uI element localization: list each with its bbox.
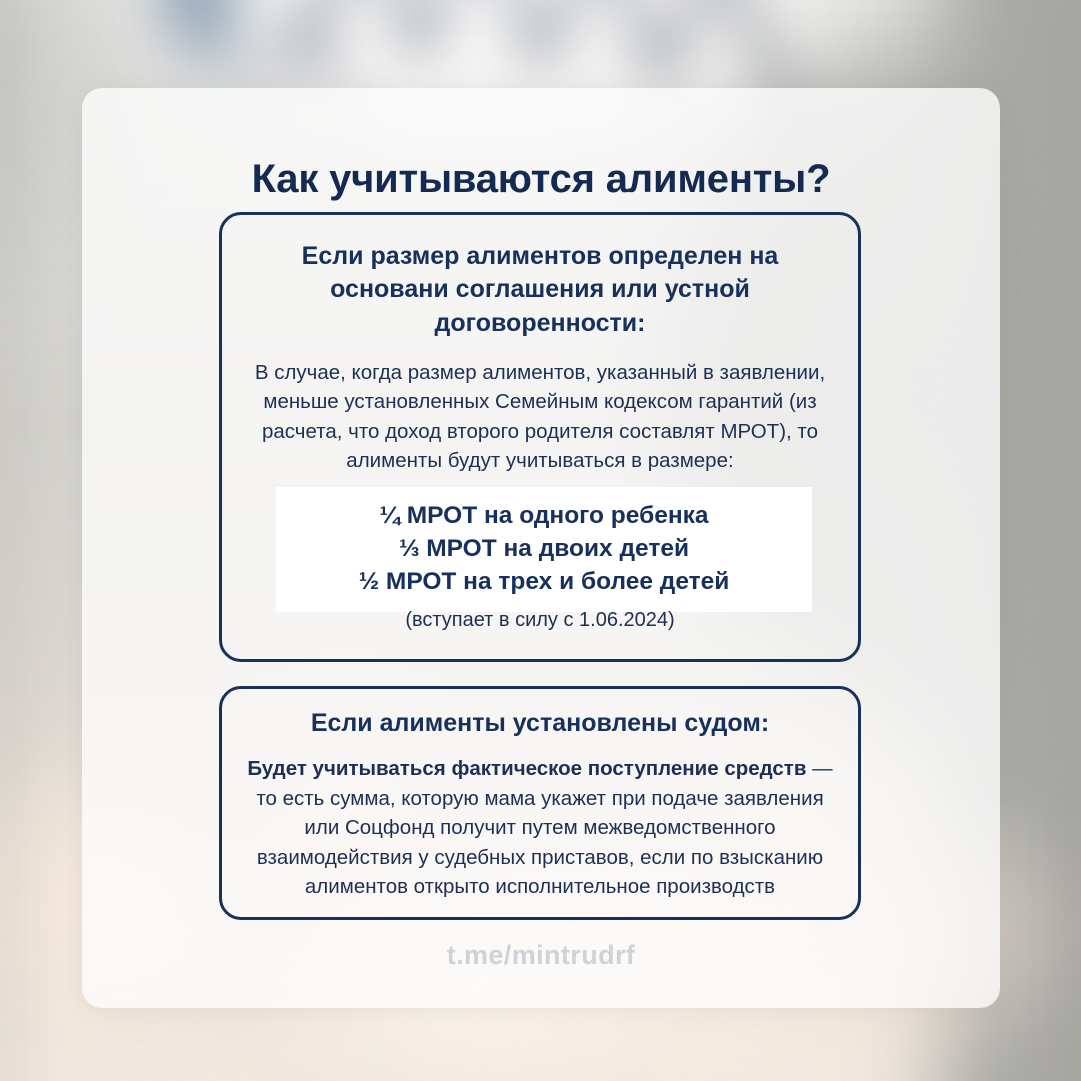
content-panel: Как учитываются алименты? Если размер ал… [82,88,1000,1008]
poster-root: Как учитываются алименты? Если размер ал… [0,0,1081,1081]
block-body-court-emphasis: Будет учитываться фактическое поступлени… [247,757,806,780]
block-heading-court: Если алименты установлены судом: [222,689,858,740]
info-block-court: Если алименты установлены судом: Будет у… [219,686,861,920]
block-body-agreement: В случае, когда размер алиментов, указан… [222,340,858,476]
telegram-handle: t.me/mintrudrf [82,940,1000,971]
block-heading-agreement: Если размер алиментов определен на основ… [222,215,858,340]
rate-line-one-child: ¼ МРОТ на одного ребенка [276,499,812,532]
rate-line-two-children: ⅓ МРОТ на двоих детей [276,532,812,565]
info-block-agreement: Если размер алиментов определен на основ… [219,212,861,662]
rates-highlight-box: ¼ МРОТ на одного ребенка ⅓ МРОТ на двоих… [276,487,812,612]
rate-line-three-or-more-children: ½ МРОТ на трех и более детей [276,565,812,598]
block-body-court: Будет учитываться фактическое поступлени… [222,740,858,902]
page-title: Как учитываются алименты? [82,157,1000,202]
effective-date-note: (вступает в силу с 1.06.2024) [222,609,858,632]
